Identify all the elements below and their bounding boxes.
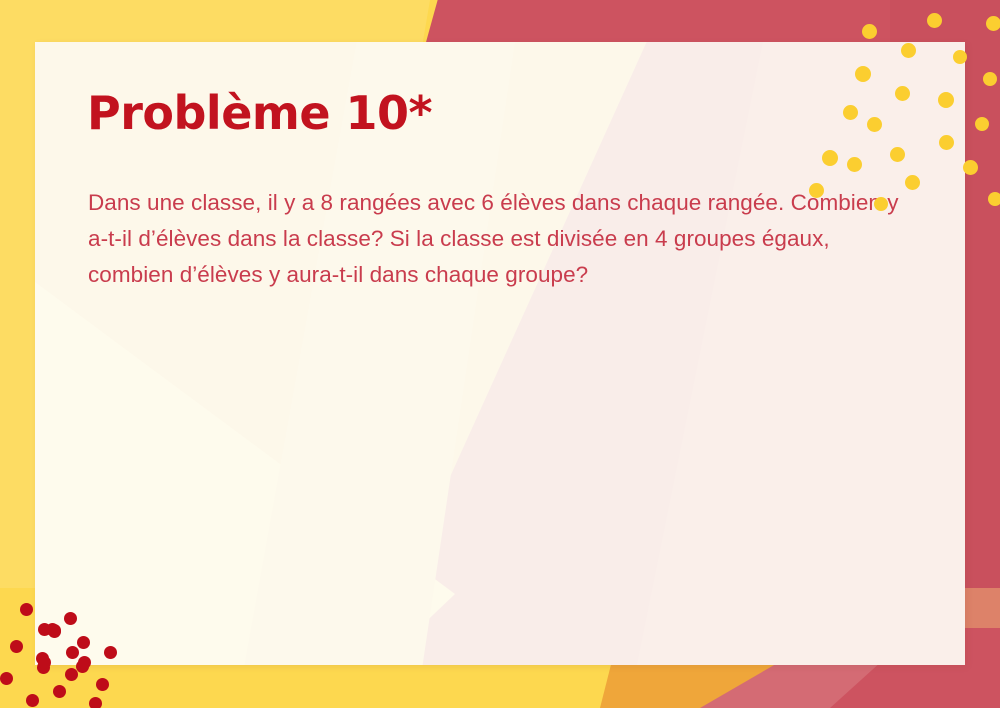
- card-content: Problème 10* Dans une classe, il y a 8 r…: [35, 42, 965, 665]
- content-card: Problème 10* Dans une classe, il y a 8 r…: [35, 42, 965, 665]
- slide-canvas: Problème 10* Dans une classe, il y a 8 r…: [0, 0, 1000, 708]
- problem-statement: Dans une classe, il y a 8 rangées avec 6…: [88, 185, 908, 293]
- page-title: Problème 10*: [87, 86, 432, 140]
